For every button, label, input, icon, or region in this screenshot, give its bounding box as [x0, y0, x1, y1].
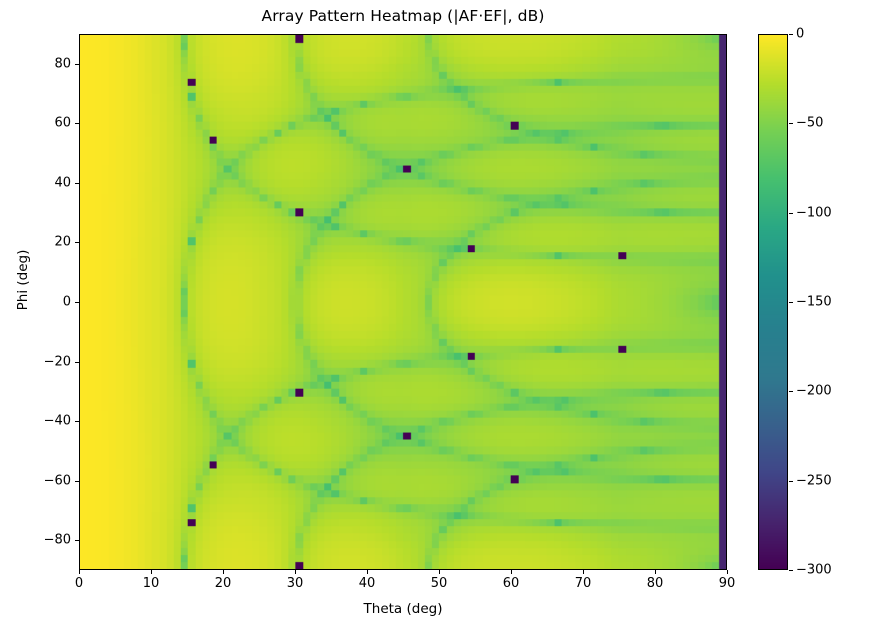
x-tick-label: 60: [503, 576, 520, 591]
x-tick-label: 0: [75, 576, 83, 591]
x-tick-label: 40: [359, 576, 376, 591]
y-tick-mark: [75, 242, 79, 243]
x-tick-label: 80: [647, 576, 664, 591]
x-tick-mark: [439, 570, 440, 574]
x-tick-mark: [655, 570, 656, 574]
figure-canvas: Array Pattern Heatmap (|AF·EF|, dB) 0102…: [0, 0, 885, 637]
colorbar-tick-label: 0: [796, 27, 804, 42]
colorbar-tick-mark: [789, 570, 793, 571]
colorbar-tick-mark: [789, 302, 793, 303]
colorbar-tick-label: −300: [796, 563, 832, 578]
colorbar-tick-mark: [789, 391, 793, 392]
heatmap-axes[interactable]: [79, 34, 727, 570]
y-tick-mark: [75, 64, 79, 65]
y-tick-mark: [75, 183, 79, 184]
y-tick-label: −40: [44, 414, 71, 429]
x-tick-label: 10: [143, 576, 160, 591]
x-tick-mark: [295, 570, 296, 574]
y-tick-mark: [75, 481, 79, 482]
x-tick-label: 30: [287, 576, 304, 591]
x-tick-mark: [151, 570, 152, 574]
y-tick-mark: [75, 362, 79, 363]
colorbar-tick-label: −150: [796, 295, 832, 310]
y-tick-label: 60: [54, 116, 71, 131]
x-tick-label: 50: [431, 576, 448, 591]
chart-title: Array Pattern Heatmap (|AF·EF|, dB): [79, 7, 727, 25]
y-tick-label: 0: [63, 295, 71, 310]
y-tick-label: 20: [54, 235, 71, 250]
colorbar-gradient: [759, 35, 787, 569]
colorbar-tick-mark: [789, 123, 793, 124]
y-tick-label: 80: [54, 56, 71, 71]
colorbar-tick-mark: [789, 481, 793, 482]
y-tick-mark: [75, 540, 79, 541]
heatmap-image: [80, 35, 726, 569]
x-tick-mark: [511, 570, 512, 574]
y-tick-label: −80: [44, 533, 71, 548]
x-axis-label: Theta (deg): [79, 601, 727, 617]
colorbar-tick-label: −200: [796, 384, 832, 399]
colorbar-tick-label: −100: [796, 205, 832, 220]
x-tick-mark: [79, 570, 80, 574]
y-tick-mark: [75, 123, 79, 124]
y-tick-label: −20: [44, 354, 71, 369]
x-tick-label: 70: [575, 576, 592, 591]
x-tick-mark: [223, 570, 224, 574]
y-axis-label: Phi (deg): [15, 205, 31, 355]
y-tick-mark: [75, 421, 79, 422]
y-tick-label: −60: [44, 473, 71, 488]
y-tick-label: 40: [54, 175, 71, 190]
x-tick-mark: [367, 570, 368, 574]
x-tick-label: 20: [215, 576, 232, 591]
colorbar-tick-label: −50: [796, 116, 823, 131]
x-tick-mark: [727, 570, 728, 574]
y-tick-mark: [75, 302, 79, 303]
colorbar-tick-mark: [789, 213, 793, 214]
colorbar-tick-label: −250: [796, 473, 832, 488]
x-tick-mark: [583, 570, 584, 574]
x-tick-label: 90: [719, 576, 736, 591]
colorbar[interactable]: [758, 34, 788, 570]
colorbar-tick-mark: [789, 34, 793, 35]
